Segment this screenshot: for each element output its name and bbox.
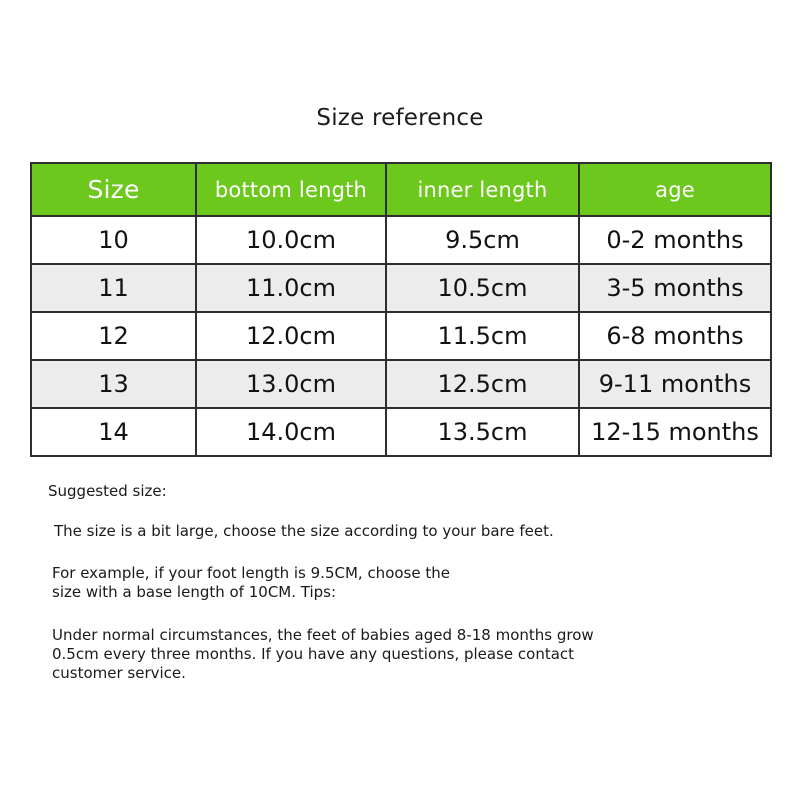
- cell-size: 14: [31, 408, 196, 456]
- column-header-bottom-length: bottom length: [196, 163, 386, 216]
- table-header-row: Size bottom length inner length age: [31, 163, 771, 216]
- notes-line-1: The size is a bit large, choose the size…: [54, 522, 748, 540]
- cell-inner-length: 9.5cm: [386, 216, 579, 264]
- cell-size: 11: [31, 264, 196, 312]
- cell-bottom-length: 10.0cm: [196, 216, 386, 264]
- cell-bottom-length: 11.0cm: [196, 264, 386, 312]
- cell-age: 3-5 months: [579, 264, 771, 312]
- notes-example: For example, if your foot length is 9.5C…: [52, 564, 748, 602]
- cell-age: 12-15 months: [579, 408, 771, 456]
- cell-inner-length: 13.5cm: [386, 408, 579, 456]
- column-header-age: age: [579, 163, 771, 216]
- suggested-size-notes: Suggested size: The size is a bit large,…: [48, 482, 748, 683]
- cell-size: 13: [31, 360, 196, 408]
- cell-inner-length: 12.5cm: [386, 360, 579, 408]
- notes-growth: Under normal circumstances, the feet of …: [52, 626, 748, 683]
- cell-bottom-length: 14.0cm: [196, 408, 386, 456]
- table-row: 14 14.0cm 13.5cm 12-15 months: [31, 408, 771, 456]
- page-title: Size reference: [0, 105, 800, 131]
- cell-bottom-length: 13.0cm: [196, 360, 386, 408]
- table-row: 11 11.0cm 10.5cm 3-5 months: [31, 264, 771, 312]
- column-header-inner-length: inner length: [386, 163, 579, 216]
- table-row: 12 12.0cm 11.5cm 6-8 months: [31, 312, 771, 360]
- cell-age: 0-2 months: [579, 216, 771, 264]
- notes-heading: Suggested size:: [48, 482, 748, 500]
- cell-inner-length: 10.5cm: [386, 264, 579, 312]
- cell-inner-length: 11.5cm: [386, 312, 579, 360]
- table-row: 13 13.0cm 12.5cm 9-11 months: [31, 360, 771, 408]
- cell-bottom-length: 12.0cm: [196, 312, 386, 360]
- cell-size: 10: [31, 216, 196, 264]
- table-row: 10 10.0cm 9.5cm 0-2 months: [31, 216, 771, 264]
- column-header-size: Size: [31, 163, 196, 216]
- cell-age: 6-8 months: [579, 312, 771, 360]
- cell-age: 9-11 months: [579, 360, 771, 408]
- cell-size: 12: [31, 312, 196, 360]
- size-reference-table: Size bottom length inner length age 10 1…: [30, 162, 772, 457]
